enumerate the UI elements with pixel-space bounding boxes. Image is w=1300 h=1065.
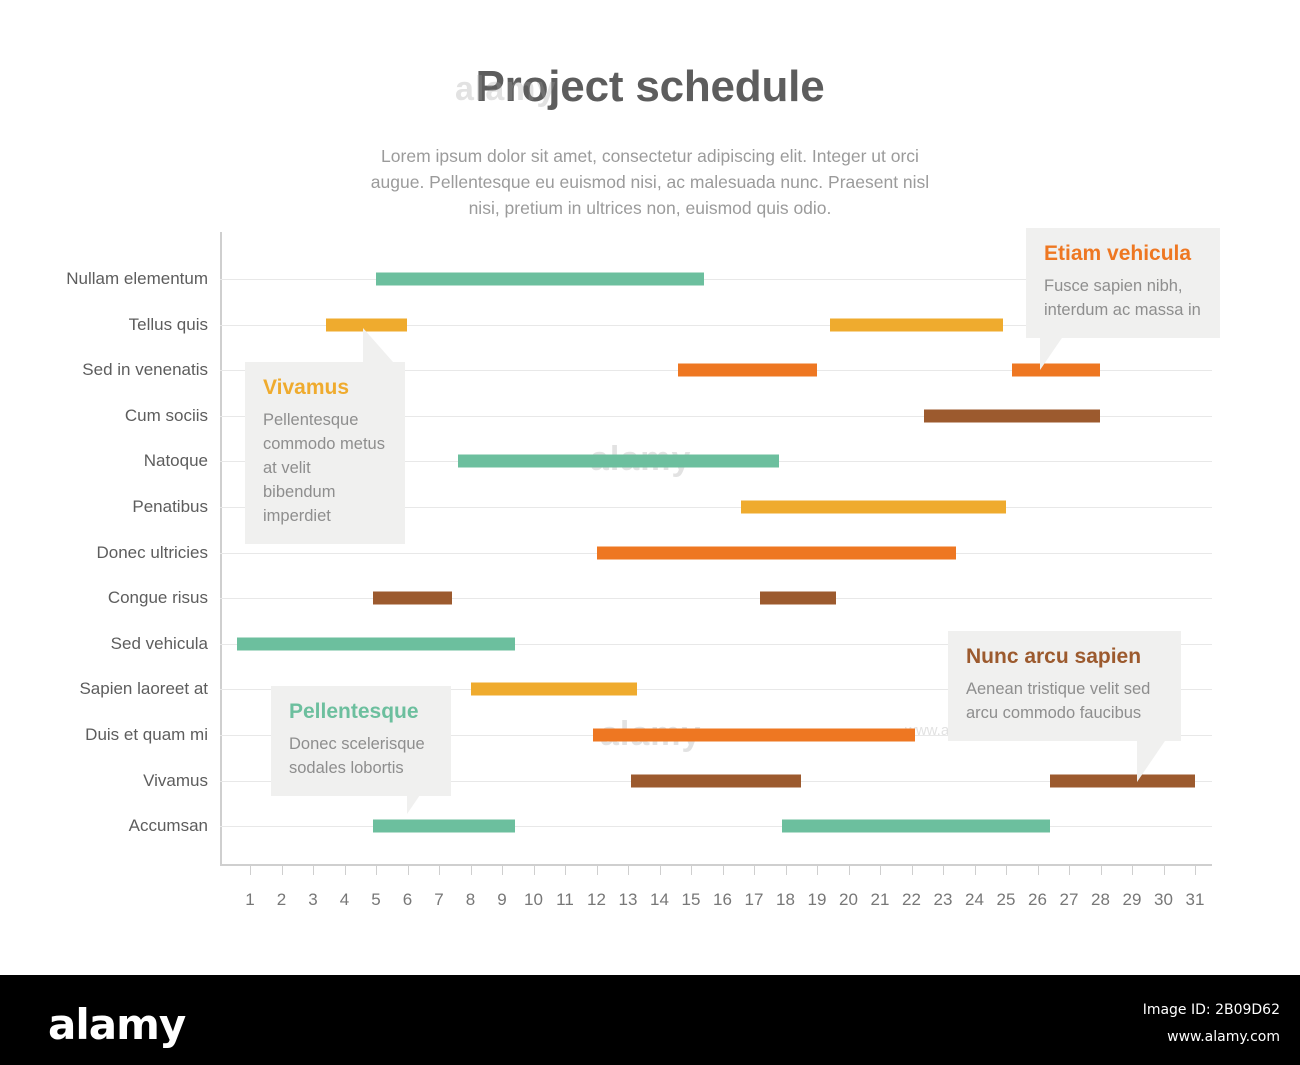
- y-axis-label: Duis et quam mi: [10, 725, 208, 745]
- callout-tail: [363, 328, 393, 362]
- gantt-bar[interactable]: [597, 546, 956, 559]
- y-axis-line: [220, 232, 222, 866]
- gantt-bar[interactable]: [830, 318, 1003, 331]
- gantt-bar[interactable]: [678, 364, 817, 377]
- x-axis-tick-label: 23: [928, 890, 958, 910]
- x-axis-tick: [817, 866, 818, 875]
- callout-vivamus[interactable]: VivamusPellentesque commodo metus at vel…: [245, 362, 405, 544]
- x-axis-tick: [723, 866, 724, 875]
- callout-title: Pellentesque: [289, 700, 433, 723]
- y-axis-label: Congue risus: [10, 588, 208, 608]
- x-axis-tick-label: 7: [424, 890, 454, 910]
- x-axis-tick-label: 12: [582, 890, 612, 910]
- x-axis-tick: [282, 866, 283, 875]
- x-axis-tick: [628, 866, 629, 875]
- x-axis-tick: [376, 866, 377, 875]
- gantt-bar[interactable]: [741, 501, 1006, 514]
- x-axis-tick: [597, 866, 598, 875]
- x-axis-tick-label: 2: [267, 890, 297, 910]
- x-axis-tick-label: 20: [834, 890, 864, 910]
- x-axis-tick: [502, 866, 503, 875]
- footer-url[interactable]: www.alamy.com: [1167, 1029, 1280, 1045]
- x-axis-line: [220, 864, 1212, 866]
- x-axis-tick: [849, 866, 850, 875]
- x-axis-tick: [1038, 866, 1039, 875]
- x-axis-tick: [912, 866, 913, 875]
- gantt-bar[interactable]: [631, 774, 801, 787]
- x-axis-tick-label: 13: [613, 890, 643, 910]
- x-axis-tick-label: 19: [802, 890, 832, 910]
- x-axis-tick-label: 26: [1023, 890, 1053, 910]
- x-axis-tick: [1195, 866, 1196, 875]
- gantt-bar[interactable]: [458, 455, 779, 468]
- y-axis-label: Nullam elementum: [10, 269, 208, 289]
- x-axis-tick-label: 9: [487, 890, 517, 910]
- callout-nunc-arcu-sapien[interactable]: Nunc arcu sapienAenean tristique velit s…: [948, 631, 1181, 741]
- x-axis-tick-label: 24: [960, 890, 990, 910]
- x-axis-tick: [408, 866, 409, 875]
- footer-bar: [0, 975, 1300, 1065]
- x-axis-tick-label: 28: [1086, 890, 1116, 910]
- x-axis-tick-label: 22: [897, 890, 927, 910]
- x-axis-tick-label: 31: [1180, 890, 1210, 910]
- x-axis-tick-label: 8: [456, 890, 486, 910]
- x-axis-tick: [786, 866, 787, 875]
- callout-body: Pellentesque commodo metus at velit bibe…: [263, 408, 387, 528]
- y-axis-label: Penatibus: [10, 497, 208, 517]
- x-axis-tick-label: 16: [708, 890, 738, 910]
- y-axis-label: Vivamus: [10, 771, 208, 791]
- x-axis-tick-label: 5: [361, 890, 391, 910]
- gantt-bar[interactable]: [471, 683, 638, 696]
- x-axis-tick: [943, 866, 944, 875]
- x-axis-tick: [534, 866, 535, 875]
- y-axis-label: Sed vehicula: [10, 634, 208, 654]
- y-axis-label: Tellus quis: [10, 315, 208, 335]
- gridline: [220, 598, 1212, 599]
- x-axis-tick-label: 10: [519, 890, 549, 910]
- x-axis-tick: [660, 866, 661, 875]
- x-axis-tick-label: 27: [1054, 890, 1084, 910]
- x-axis-tick-label: 18: [771, 890, 801, 910]
- gantt-bar[interactable]: [593, 729, 914, 742]
- gantt-bar[interactable]: [760, 592, 836, 605]
- gantt-bar[interactable]: [924, 409, 1100, 422]
- x-axis-tick-label: 30: [1149, 890, 1179, 910]
- x-axis-tick-label: 21: [865, 890, 895, 910]
- callout-title: Vivamus: [263, 376, 387, 399]
- x-axis-tick: [880, 866, 881, 875]
- x-axis-tick: [1101, 866, 1102, 875]
- x-axis-tick-label: 17: [739, 890, 769, 910]
- x-axis-tick: [313, 866, 314, 875]
- x-axis-tick-label: 25: [991, 890, 1021, 910]
- y-axis-label: Natoque: [10, 451, 208, 471]
- page-title: Project schedule: [0, 62, 1300, 112]
- x-axis-tick: [345, 866, 346, 875]
- footer-image-id: Image ID: 2B09D62: [1143, 1002, 1280, 1018]
- y-axis-label: Sapien laoreet at: [10, 679, 208, 699]
- gridline: [220, 826, 1212, 827]
- gantt-bar[interactable]: [782, 820, 1050, 833]
- screenshot-root: Project schedule Lorem ipsum dolor sit a…: [0, 0, 1300, 1065]
- x-axis-tick: [471, 866, 472, 875]
- callout-tail: [1137, 738, 1167, 782]
- callout-title: Nunc arcu sapien: [966, 645, 1163, 668]
- gantt-bar[interactable]: [237, 637, 514, 650]
- x-axis-tick-label: 6: [393, 890, 423, 910]
- x-axis-tick: [754, 866, 755, 875]
- callout-pellentesque[interactable]: PellentesqueDonec scelerisque sodales lo…: [271, 686, 451, 796]
- x-axis-tick-label: 3: [298, 890, 328, 910]
- callout-body: Donec scelerisque sodales lobortis: [289, 732, 433, 780]
- x-axis-tick: [691, 866, 692, 875]
- x-axis-tick: [1132, 866, 1133, 875]
- x-axis-tick-label: 4: [330, 890, 360, 910]
- callout-etiam-vehicula[interactable]: Etiam vehiculaFusce sapien nibh, interdu…: [1026, 228, 1220, 338]
- x-axis-tick-label: 29: [1117, 890, 1147, 910]
- gantt-bar[interactable]: [376, 273, 704, 286]
- y-axis-label: Cum sociis: [10, 406, 208, 426]
- x-axis-tick-label: 11: [550, 890, 580, 910]
- y-axis-label: Donec ultricies: [10, 543, 208, 563]
- x-axis-tick: [250, 866, 251, 875]
- x-axis-tick: [1164, 866, 1165, 875]
- x-axis-tick: [1069, 866, 1070, 875]
- x-axis-tick-label: 1: [235, 890, 265, 910]
- x-axis-tick-label: 14: [645, 890, 675, 910]
- x-axis-tick: [439, 866, 440, 875]
- gantt-bar[interactable]: [373, 820, 515, 833]
- gantt-bar[interactable]: [373, 592, 452, 605]
- page-subtitle: Lorem ipsum dolor sit amet, consectetur …: [370, 143, 930, 221]
- x-axis-tick-label: 15: [676, 890, 706, 910]
- alamy-logo: alamy: [48, 1000, 185, 1049]
- gantt-bar[interactable]: [1050, 774, 1195, 787]
- y-axis-label: Sed in venenatis: [10, 360, 208, 380]
- callout-body: Fusce sapien nibh, interdum ac massa in: [1044, 274, 1202, 322]
- callout-title: Etiam vehicula: [1044, 242, 1202, 265]
- y-axis-label: Accumsan: [10, 816, 208, 836]
- callout-body: Aenean tristique velit sed arcu commodo …: [966, 677, 1163, 725]
- x-axis-tick: [975, 866, 976, 875]
- x-axis-tick: [1006, 866, 1007, 875]
- x-axis-tick: [565, 866, 566, 875]
